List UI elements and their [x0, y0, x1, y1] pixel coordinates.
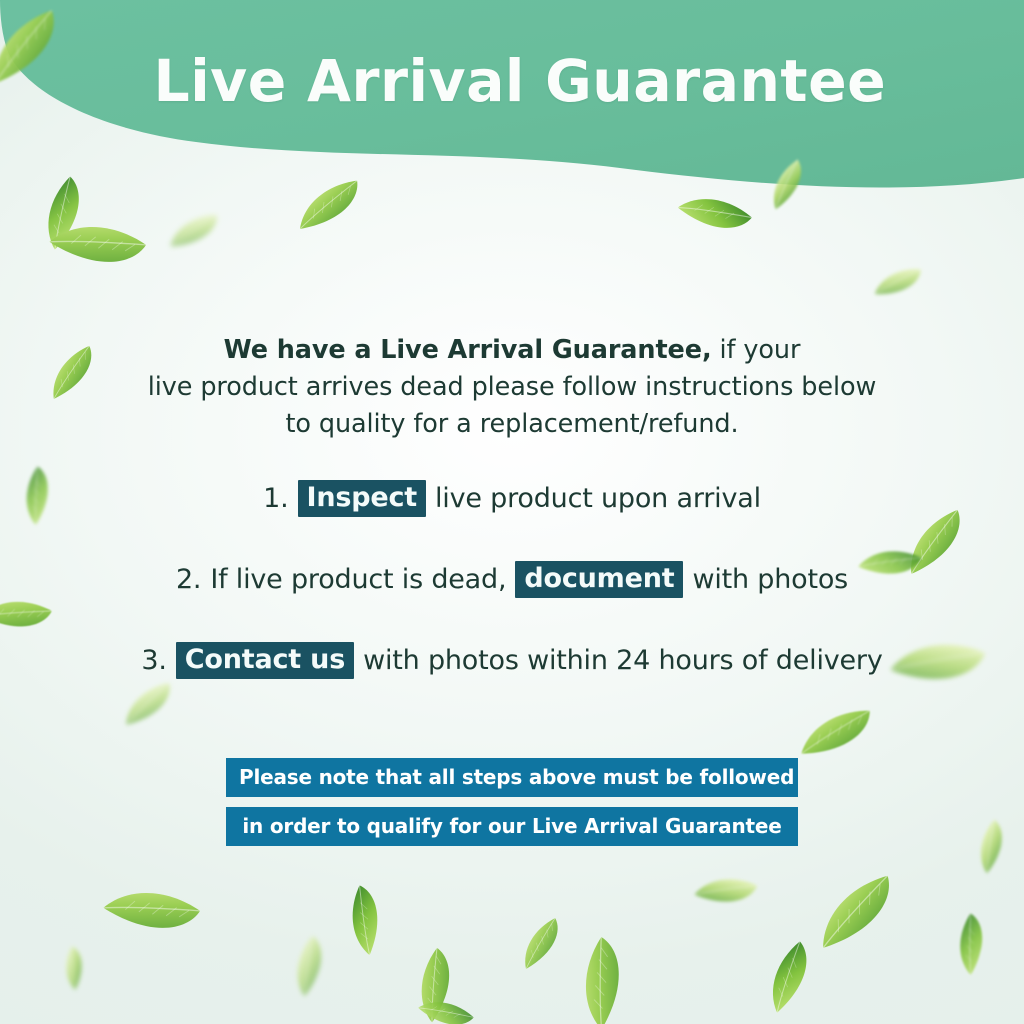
step-item-1: 1. Inspect live product upon arrival — [0, 480, 1024, 517]
note-line-2: in order to qualify for our Live Arrival… — [226, 807, 798, 846]
footer-notes: Please note that all steps above must be… — [0, 758, 1024, 856]
live-arrival-guarantee-poster: Live Arrival Guarantee — [0, 0, 1024, 1024]
step-item-2: 2. If live product is dead, document wit… — [0, 561, 1024, 598]
step-1-highlight[interactable]: Inspect — [298, 480, 427, 517]
step-item-3: 3. Contact us with photos within 24 hour… — [0, 642, 1024, 679]
step-2-number: 2. — [176, 564, 201, 595]
step-2-lead-text: If live product is dead, — [210, 564, 506, 595]
intro-line-1: We have a Live Arrival Guarantee, if you… — [0, 332, 1024, 369]
step-3-number: 3. — [141, 645, 166, 676]
intro-line-2: live product arrives dead please follow … — [0, 369, 1024, 406]
step-2-text: with photos — [692, 564, 848, 595]
step-3-text: with photos within 24 hours of delivery — [363, 645, 883, 676]
step-3-highlight[interactable]: Contact us — [176, 642, 354, 679]
poster-content: We have a Live Arrival Guarantee, if you… — [0, 0, 1024, 1024]
step-1-number: 1. — [263, 483, 288, 514]
steps-list: 1. Inspect live product upon arrival 2. … — [0, 480, 1024, 723]
intro-paragraph: We have a Live Arrival Guarantee, if you… — [0, 332, 1024, 443]
step-1-text: live product upon arrival — [435, 483, 761, 514]
intro-line-1-bold: We have a Live Arrival Guarantee, — [224, 335, 712, 365]
intro-line-1-rest: if your — [712, 335, 801, 365]
note-line-1: Please note that all steps above must be… — [226, 758, 798, 797]
intro-line-3: to quality for a replacement/refund. — [0, 406, 1024, 443]
step-2-highlight[interactable]: document — [515, 561, 683, 598]
